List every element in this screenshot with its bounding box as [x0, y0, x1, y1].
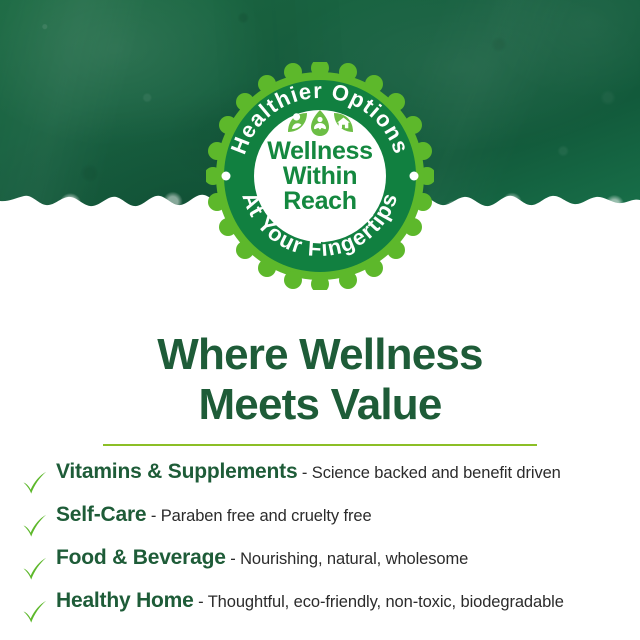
check-icon-glyph: [22, 557, 48, 581]
seal-dot-left: [222, 172, 231, 181]
list-item-title: Healthy Home: [56, 589, 194, 612]
headline: Where Wellness Meets Value: [0, 330, 640, 430]
check-icon-glyph: [22, 600, 48, 624]
list-item-text: Healthy Home - Thoughtful, eco-friendly,…: [56, 589, 640, 613]
list-item-text: Vitamins & Supplements - Science backed …: [56, 460, 640, 484]
divider-rule: [103, 444, 537, 446]
check-icon: [22, 471, 56, 495]
list-item: Vitamins & Supplements - Science backed …: [0, 460, 640, 503]
benefits-list: Vitamins & Supplements - Science backed …: [0, 460, 640, 632]
seal-dot-right: [410, 172, 419, 181]
list-item-desc: - Paraben free and cruelty free: [146, 507, 371, 525]
list-item-title: Self-Care: [56, 503, 146, 526]
list-item-desc: - Thoughtful, eco-friendly, non-toxic, b…: [194, 593, 564, 611]
seal-graphic: Healthier Options At Your Fingertips: [206, 62, 434, 290]
list-item-title: Vitamins & Supplements: [56, 460, 297, 483]
list-item-desc: - Science backed and benefit driven: [297, 464, 560, 482]
list-item-desc: - Nourishing, natural, wholesome: [226, 550, 468, 568]
check-icon: [22, 557, 56, 581]
headline-line-1: Where Wellness: [0, 330, 640, 380]
wellness-seal-badge: Healthier Options At Your Fingertips: [206, 62, 434, 290]
list-item-text: Self-Care - Paraben free and cruelty fre…: [56, 503, 640, 527]
list-item-title: Food & Beverage: [56, 546, 226, 569]
check-icon: [22, 514, 56, 538]
check-icon: [22, 600, 56, 624]
list-item: Self-Care - Paraben free and cruelty fre…: [0, 503, 640, 546]
check-icon-glyph: [22, 514, 48, 538]
headline-line-2: Meets Value: [0, 380, 640, 430]
promo-banner: Healthier Options At Your Fingertips: [0, 0, 640, 640]
list-item: Food & Beverage - Nourishing, natural, w…: [0, 546, 640, 589]
check-icon-glyph: [22, 471, 48, 495]
list-item: Healthy Home - Thoughtful, eco-friendly,…: [0, 589, 640, 632]
list-item-text: Food & Beverage - Nourishing, natural, w…: [56, 546, 640, 570]
